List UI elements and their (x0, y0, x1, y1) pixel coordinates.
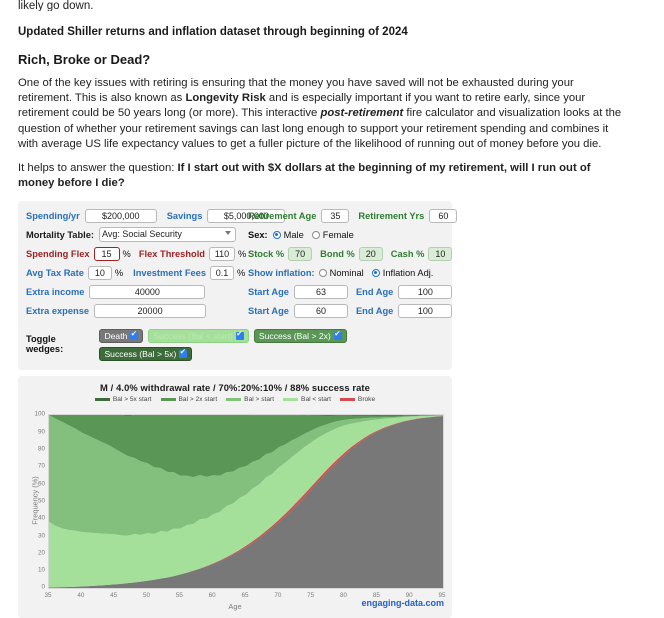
legend-label: Bal < start (301, 396, 331, 403)
bond-input[interactable] (359, 247, 383, 261)
show-inflation-label: Show inflation: (248, 268, 315, 278)
end-age-label-1: End Age (356, 287, 393, 297)
legend-swatch (226, 398, 241, 401)
tax-fees-row: Avg Tax Rate % Investment Fees % (26, 264, 248, 281)
wedge-toggle-3[interactable]: Success (Bal > 5x) (99, 347, 192, 361)
y-tick-label: 30 (38, 532, 48, 539)
retirement-age-input[interactable] (321, 209, 349, 223)
end-age-input-1[interactable] (398, 285, 452, 299)
x-tick-label: 65 (241, 592, 248, 599)
flex-threshold-unit: % (238, 249, 246, 259)
x-tick-label: 55 (176, 592, 183, 599)
sex-male-label: Male (284, 230, 304, 240)
spending-flex-label: Spending Flex (26, 249, 90, 259)
mortality-row: Mortality Table: Avg: Social Security (26, 226, 248, 243)
flex-threshold-input[interactable] (209, 247, 235, 261)
chart-panel: M / 4.0% withdrawal rate / 70%:20%:10% /… (18, 376, 452, 618)
sex-female-label: Female (323, 230, 354, 240)
start-age-input-1[interactable] (294, 285, 348, 299)
y-tick-label: 80 (38, 446, 48, 453)
y-tick-label: 50 (38, 497, 48, 504)
legend-label: Bal > 2x start (179, 396, 218, 403)
stacked-area-plot[interactable] (48, 414, 444, 589)
investment-fees-unit: % (237, 268, 245, 278)
mortality-select-wrap[interactable]: Avg: Social Security (99, 227, 236, 242)
y-tick-label: 100 (34, 411, 48, 418)
legend-swatch (283, 398, 298, 401)
extra-income-input[interactable] (89, 285, 205, 299)
page-title: Rich, Broke or Dead? (18, 52, 654, 67)
toggle-wedges-label: Toggle wedges: (26, 334, 94, 354)
allocation-row: Stock % Bond % Cash % (248, 245, 448, 262)
wedge-label: Success (Bal > 2x) (259, 331, 331, 341)
checkbox-checked-icon[interactable] (179, 350, 187, 358)
update-note: Updated Shiller returns and inflation da… (18, 26, 654, 38)
savings-label: Savings (167, 211, 203, 221)
wedge-toggle-2[interactable]: Success (Bal > 2x) (254, 329, 347, 343)
mortality-select[interactable]: Avg: Social Security (99, 227, 236, 242)
end-age-label-2: End Age (356, 306, 393, 316)
post-retirement-term: post-retirement (320, 107, 403, 119)
checkbox-checked-icon[interactable] (334, 332, 342, 340)
watermark: engaging-data.com (361, 598, 444, 608)
chart-title: M / 4.0% withdrawal rate / 70%:20%:10% /… (18, 376, 452, 393)
extra-expense-input[interactable] (94, 304, 206, 318)
retirement-ages-row: Retirement Age Retirement Yrs (248, 207, 448, 224)
wedge-toggle-0[interactable]: Death (99, 329, 143, 343)
wedge-label: Death (104, 331, 127, 341)
bond-label: Bond % (320, 249, 355, 259)
x-tick-label: 85 (373, 592, 380, 599)
stock-label: Stock % (248, 249, 284, 259)
form-column-right: Retirement Age Retirement Yrs Sex: Male … (248, 207, 448, 321)
sex-female-radio[interactable]: Female (312, 230, 354, 240)
x-tick-label: 70 (274, 592, 281, 599)
retirement-yrs-input[interactable] (429, 209, 457, 223)
radio-on-icon (372, 269, 380, 277)
wedge-toggle-group: DeathSuccess (Bal < start)Success (Bal >… (99, 326, 444, 362)
end-age-input-2[interactable] (398, 304, 452, 318)
investment-fees-label: Investment Fees (133, 268, 206, 278)
sex-label: Sex: (248, 230, 268, 240)
x-tick-label: 90 (406, 592, 413, 599)
y-tick-label: 10 (38, 567, 48, 574)
investment-fees-input[interactable] (210, 266, 234, 280)
spending-flex-unit: % (123, 249, 131, 259)
legend-item-1: Bal > 2x start (161, 396, 218, 403)
y-tick-label: 40 (38, 515, 48, 522)
stock-input[interactable] (288, 247, 312, 261)
inflation-adj-label: Inflation Adj. (383, 268, 434, 278)
x-tick-label: 45 (110, 592, 117, 599)
x-tick-label: 75 (307, 592, 314, 599)
retirement-age-label: Retirement Age (248, 211, 316, 221)
inflation-nominal-label: Nominal (330, 268, 364, 278)
spending-input[interactable] (85, 209, 157, 223)
age-range-row-2: Start Age End Age (248, 302, 448, 319)
article-page: likely go down. Updated Shiller returns … (0, 0, 664, 618)
mortality-label: Mortality Table: (26, 230, 94, 240)
longevity-risk-term: Longevity Risk (185, 92, 265, 104)
sex-male-radio[interactable]: Male (273, 230, 304, 240)
y-tick-label: 0 (41, 584, 48, 591)
age-range-row-1: Start Age End Age (248, 283, 448, 300)
start-age-label-2: Start Age (248, 306, 289, 316)
start-age-input-2[interactable] (294, 304, 348, 318)
clipped-top-text: likely go down. (10, 0, 654, 11)
legend-item-2: Bal > start (226, 396, 274, 403)
tax-rate-unit: % (115, 268, 123, 278)
x-tick-label: 40 (77, 592, 84, 599)
wedge-toggle-1[interactable]: Success (Bal < start) (148, 329, 249, 343)
legend-swatch (95, 398, 110, 401)
form-column-left: Spending/yr Savings Mortality Table: Avg… (26, 207, 248, 321)
x-tick-label: 35 (44, 592, 51, 599)
intro-paragraph: One of the key issues with retiring is e… (18, 76, 628, 152)
extra-income-row: Extra income (26, 283, 248, 300)
x-tick-label: 50 (143, 592, 150, 599)
tax-rate-input[interactable] (88, 266, 112, 280)
checkbox-checked-icon[interactable] (236, 332, 244, 340)
wedge-label: Success (Bal < start) (153, 331, 233, 341)
legend-swatch (161, 398, 176, 401)
legend-label: Bal > start (244, 396, 274, 403)
checkbox-checked-icon[interactable] (130, 332, 138, 340)
y-tick-label: 20 (38, 549, 48, 556)
legend-swatch (340, 398, 355, 401)
chart-svg (49, 415, 443, 588)
extra-expense-row: Extra expense (26, 302, 248, 319)
legend-label: Broke (358, 396, 375, 403)
legend-label: Bal > 5x start (113, 396, 152, 403)
plot-wrapper: Frequency (%) Age engaging-data.com 0102… (18, 412, 452, 618)
radio-off-icon (312, 231, 320, 239)
start-age-label-1: Start Age (248, 287, 289, 297)
cash-label: Cash % (391, 249, 425, 259)
flex-threshold-label: Flex Threshold (139, 249, 205, 259)
question-lead: It helps to answer the question: (18, 162, 178, 174)
spending-label: Spending/yr (26, 211, 80, 221)
y-tick-label: 60 (38, 480, 48, 487)
extra-expense-label: Extra expense (26, 306, 89, 316)
y-tick-label: 90 (38, 428, 48, 435)
inflation-row: Show inflation: Nominal Inflation Adj. (248, 264, 448, 281)
radio-on-icon (273, 231, 281, 239)
legend-item-0: Bal > 5x start (95, 396, 152, 403)
cash-input[interactable] (428, 247, 452, 261)
y-tick-label: 70 (38, 463, 48, 470)
tax-rate-label: Avg Tax Rate (26, 268, 84, 278)
extra-income-label: Extra income (26, 287, 84, 297)
legend-item-4: Broke (340, 396, 375, 403)
calculator-panel: Spending/yr Savings Mortality Table: Avg… (18, 201, 452, 370)
sex-row: Sex: Male Female (248, 226, 448, 243)
radio-off-icon (319, 269, 327, 277)
retirement-yrs-label: Retirement Yrs (358, 211, 424, 221)
toggle-wedges-row: Toggle wedges: DeathSuccess (Bal < start… (26, 326, 444, 362)
spending-flex-input[interactable] (94, 247, 120, 261)
wedge-label: Success (Bal > 5x) (104, 349, 176, 359)
x-tick-label: 60 (209, 592, 216, 599)
inflation-adj-radio[interactable]: Inflation Adj. (372, 268, 434, 278)
x-tick-label: 95 (438, 592, 445, 599)
question-paragraph: It helps to answer the question: If I st… (18, 161, 628, 191)
spending-savings-row: Spending/yr Savings (26, 207, 248, 224)
x-tick-label: 80 (340, 592, 347, 599)
chart-legend: Bal > 5x startBal > 2x startBal > startB… (18, 396, 452, 403)
inflation-nominal-radio[interactable]: Nominal (319, 268, 364, 278)
legend-item-3: Bal < start (283, 396, 331, 403)
spending-flex-row: Spending Flex % Flex Threshold % (26, 245, 248, 262)
